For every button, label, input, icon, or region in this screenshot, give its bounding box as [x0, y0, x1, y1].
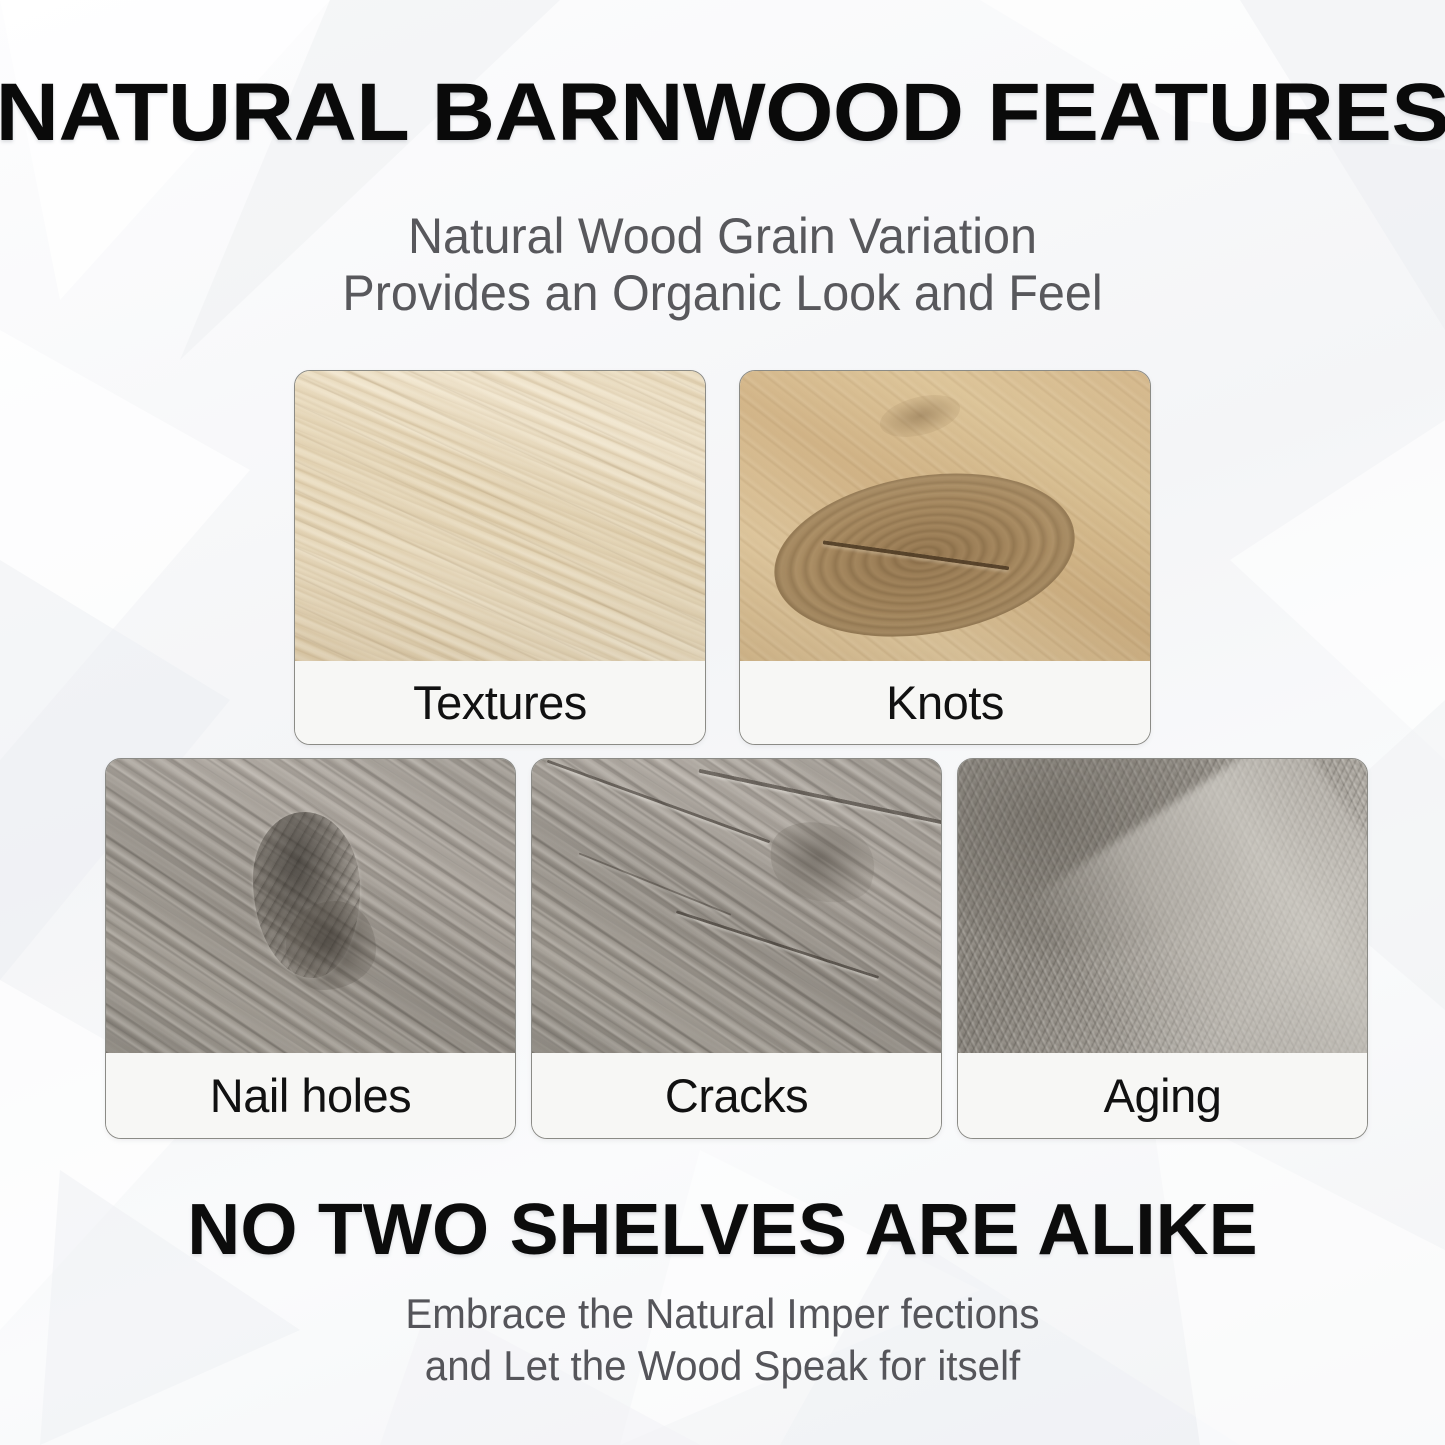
- footer-subtitle: Embrace the Natural Imper fections and L…: [29, 1288, 1416, 1392]
- feature-label-cracks: Cracks: [532, 1053, 941, 1138]
- crack-line: [547, 760, 771, 844]
- page-title: NATURAL BARNWOOD FEATURES: [0, 70, 1445, 156]
- wood-texture-grey: [532, 759, 941, 1055]
- crack-line: [676, 910, 879, 979]
- feature-label-textures: Textures: [295, 661, 705, 744]
- infographic-page: NATURAL BARNWOOD FEATURES Natural Wood G…: [0, 0, 1445, 1445]
- feature-label-aging: Aging: [958, 1053, 1367, 1138]
- footer-line-2: and Let the Wood Speak for itself: [29, 1340, 1416, 1392]
- footer-line-1: Embrace the Natural Imper fections: [29, 1288, 1416, 1340]
- feature-label-nail-holes: Nail holes: [106, 1053, 515, 1138]
- subtitle-line-1: Natural Wood Grain Variation: [22, 208, 1424, 265]
- subtitle-line-2: Provides an Organic Look and Feel: [22, 265, 1424, 322]
- wood-texture-tan: [740, 371, 1150, 663]
- feature-image-aging: [958, 759, 1367, 1055]
- nail-hole-mark-secondary: [286, 901, 376, 990]
- feature-label-knots: Knots: [740, 661, 1150, 744]
- wood-texture-cream: [295, 371, 705, 663]
- wood-texture-grey: [106, 759, 515, 1055]
- feature-image-cracks: [532, 759, 941, 1055]
- page-subtitle: Natural Wood Grain Variation Provides an…: [22, 208, 1424, 322]
- feature-card-aging: Aging: [957, 758, 1368, 1139]
- crack-line: [698, 768, 941, 825]
- page-title-wrapper: NATURAL BARNWOOD FEATURES: [0, 70, 1445, 156]
- crack-damage-blob: [761, 812, 883, 912]
- footer-title: NO TWO SHELVES ARE ALIKE: [0, 1192, 1445, 1268]
- feature-image-knots: [740, 371, 1150, 663]
- knot-crack-line: [822, 540, 1009, 570]
- small-knot-mark: [876, 388, 965, 445]
- feature-image-textures: [295, 371, 705, 663]
- feature-card-cracks: Cracks: [531, 758, 942, 1139]
- feature-card-knots: Knots: [739, 370, 1151, 745]
- wood-texture-aged: [958, 759, 1367, 1055]
- crack-line: [578, 853, 730, 916]
- feature-image-nail-holes: [106, 759, 515, 1055]
- knot-ellipse: [762, 453, 1086, 656]
- feature-card-textures: Textures: [294, 370, 706, 745]
- feature-card-nail-holes: Nail holes: [105, 758, 516, 1139]
